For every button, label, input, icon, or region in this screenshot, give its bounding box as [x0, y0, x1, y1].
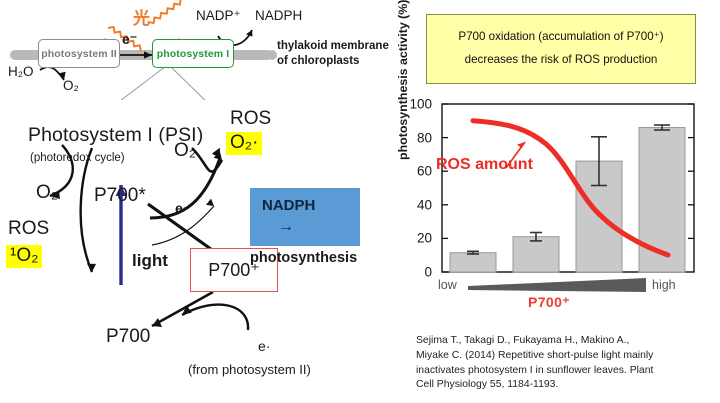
y-tick-20: 20: [406, 231, 432, 246]
photosynthesis-activity-chart: photosynthesis activity (%) 100 80 60 40…: [398, 96, 714, 311]
psi-subtitle: (photoredox cycle): [30, 152, 125, 164]
y-tick-100: 100: [406, 97, 432, 112]
light-kanji-label: 光: [133, 4, 150, 29]
singlet-oxygen-highlight: ¹O₂: [6, 245, 42, 268]
bar-1: [450, 253, 496, 272]
photosystem-ii-box: photosystem II: [38, 39, 120, 68]
ros-amount-annotation: ROS amount: [436, 156, 533, 174]
membrane-caption-line1: thylakoid membrane: [277, 40, 389, 52]
membrane-end-dot: [267, 50, 277, 60]
oxygen-label-top: O₂: [174, 140, 196, 162]
photosystem-ii-label: photosystem II: [41, 48, 117, 60]
superoxide-highlight: O₂·: [226, 132, 262, 155]
y-tick-60: 60: [406, 164, 432, 179]
p700-reduction-arrow: [152, 292, 213, 327]
p700-relaxation-arrow: [81, 148, 96, 272]
nadph-box: NADPH →: [250, 188, 360, 246]
chart-x-axis-label: P700⁺: [528, 294, 570, 311]
psi-photoredox-diagram: Photosystem I (PSI) (photoredox cycle) O…: [0, 100, 400, 403]
water-label: H₂O: [8, 64, 34, 79]
callout-box: P700 oxidation (accumulation of P700⁺) d…: [426, 14, 696, 84]
y-tick-40: 40: [406, 197, 432, 212]
light-label: light: [132, 251, 168, 271]
superoxide-label: O₂·: [226, 132, 262, 155]
nadph-box-label: NADPH: [262, 197, 315, 214]
oxygen-label-left: O₂: [36, 182, 58, 204]
citation-line-3: inactivates photosystem I in sunflower l…: [416, 364, 712, 379]
callout-line-2: decreases the risk of ROS production: [465, 49, 658, 72]
citation-line-2: Miyake C. (2014) Repetitive short-pulse …: [416, 349, 712, 364]
photosystem-i-label: photosystem I: [157, 48, 229, 60]
singlet-oxygen-label: ¹O₂: [6, 245, 42, 268]
zoom-connector-left: [116, 66, 166, 100]
callout-line-1: P700 oxidation (accumulation of P700⁺): [458, 26, 663, 49]
citation-line-1: Sejima T., Takagi D., Fukayama H., Makin…: [416, 334, 712, 349]
nadph-arrow-glyph: →: [278, 218, 294, 236]
citation-line-4: Cell Physiology 55, 1184-1193.: [416, 378, 712, 393]
p700-ground-label: P700: [106, 326, 150, 348]
nadph-label-top: NADPH: [255, 8, 302, 23]
y-tick-80: 80: [406, 130, 432, 145]
photosystem-i-box: photosystem I: [152, 39, 234, 68]
ros-label-top: ROS: [230, 108, 271, 130]
electron-label-psi: e·: [175, 200, 187, 216]
p700-excited-label: P700*: [94, 185, 146, 207]
electron-label-source: e·: [258, 338, 270, 354]
electron-from-psii-arrow: [181, 305, 248, 330]
oxygen-label-membrane: O₂: [63, 78, 79, 93]
citation-block: Sejima T., Takagi D., Fukayama H., Makin…: [416, 334, 712, 393]
x-axis-low-label: low: [438, 278, 457, 292]
water-splitting-arrow: [40, 67, 66, 80]
y-tick-0: 0: [406, 265, 432, 280]
x-axis-high-label: high: [652, 278, 676, 292]
electron-source-caption: (from photosystem II): [188, 362, 311, 377]
ros-label-left: ROS: [8, 218, 49, 240]
nadp-plus-label: NADP⁺: [196, 8, 241, 24]
electron-label-top: e⁻: [122, 31, 137, 48]
membrane-caption-line2: of chloroplasts: [277, 55, 359, 67]
membrane-schematic: photosystem II photosystem I e⁻ 光 H₂O O₂…: [0, 0, 400, 100]
bar-2: [513, 237, 559, 272]
zoom-connector-right: [170, 66, 256, 100]
p700-gradient-wedge: [468, 278, 646, 292]
photosynthesis-label: photosynthesis: [250, 250, 357, 266]
